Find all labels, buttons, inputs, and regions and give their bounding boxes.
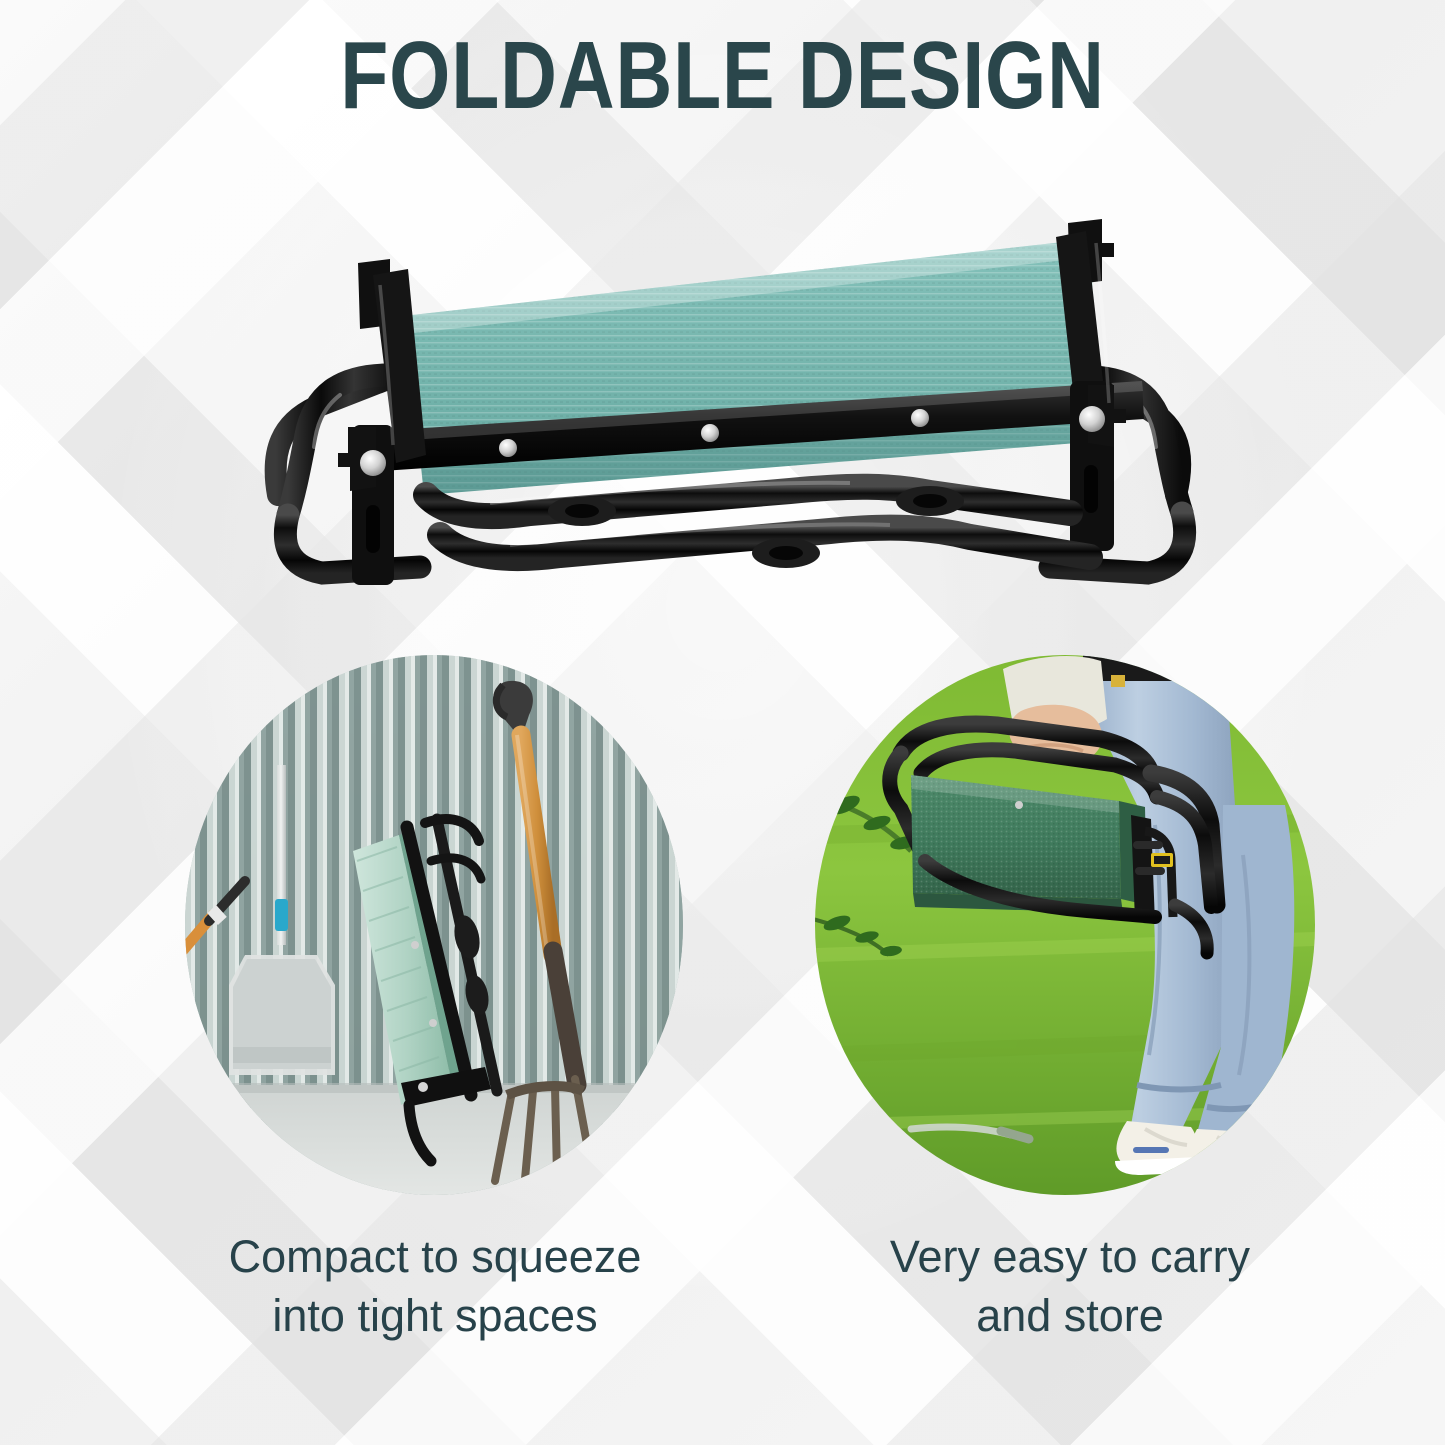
marketing-image: FOLDABLE DESIGN <box>0 0 1445 1445</box>
page-title: FOLDABLE DESIGN <box>130 26 1315 127</box>
caption-carry: Very easy to carry and store <box>790 1228 1350 1345</box>
rivet <box>911 409 929 427</box>
rivet <box>499 439 517 457</box>
panel-storage-photo <box>185 655 683 1195</box>
caption-carry-line-1: Very easy to carry <box>790 1228 1350 1287</box>
caption-carry-line-2: and store <box>790 1287 1350 1346</box>
caption-storage-line-2: into tight spaces <box>150 1287 720 1346</box>
caption-storage: Compact to squeeze into tight spaces <box>150 1228 720 1345</box>
rivet <box>701 424 719 442</box>
rivet <box>360 450 386 476</box>
left-bracket <box>338 259 426 585</box>
folded-leg-tubes <box>426 483 1090 568</box>
panel-carry-photo <box>815 655 1315 1195</box>
hero-product-image <box>230 195 1230 595</box>
caption-storage-line-1: Compact to squeeze <box>150 1228 720 1287</box>
rivet <box>1079 406 1105 432</box>
